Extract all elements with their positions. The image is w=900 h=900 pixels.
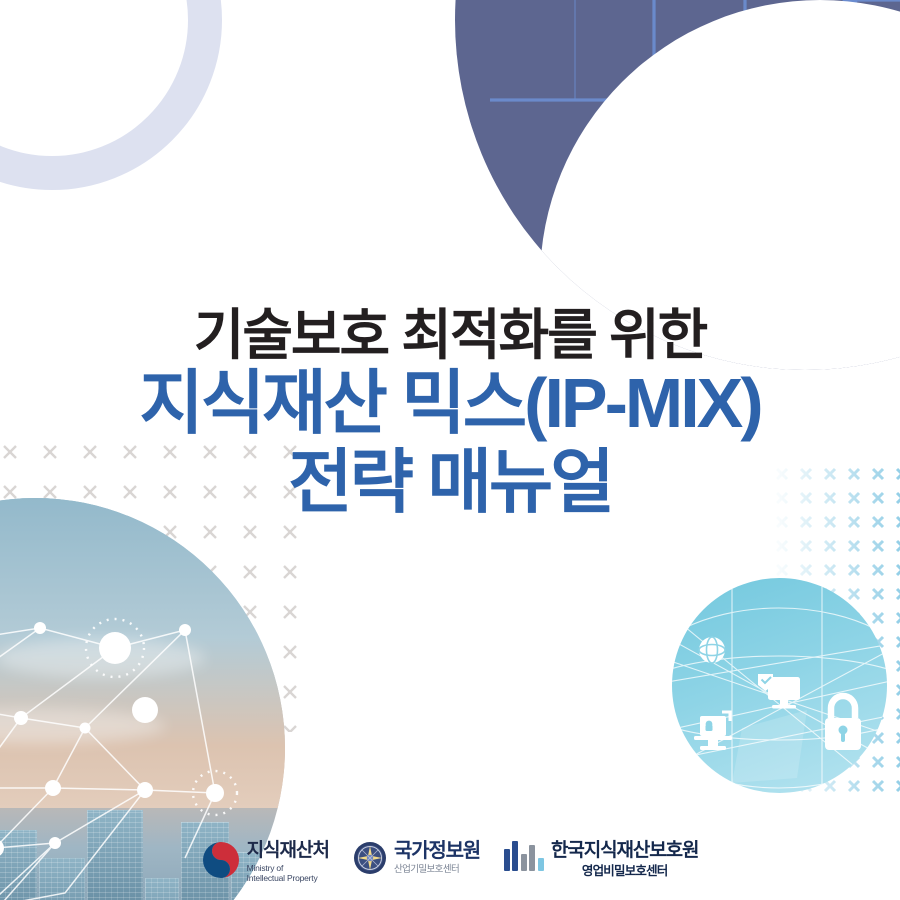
network-mesh-overlay [0, 498, 285, 900]
logo-bar: 지식재산처 Ministry of Intellectual Property [0, 841, 900, 884]
logo-nis-name-ko: 국가정보원 [394, 841, 480, 862]
poster-cover: 기술보호 최적화를 위한 지식재산 믹스(IP-MIX) 전략 매뉴얼 지식재산… [0, 0, 900, 900]
logo-koipa-name-ko: 한국지식재산보호원 [551, 841, 698, 861]
logo-mipo: 지식재산처 Ministry of Intellectual Property [202, 841, 329, 884]
decor-ring-top-left [0, 0, 222, 190]
title-block: 기술보호 최적화를 위한 지식재산 믹스(IP-MIX) 전략 매뉴얼 [0, 306, 900, 521]
logo-nis: 국가정보원 산업기밀보호센터 [353, 841, 480, 880]
logo-mipo-name-en-2: Intellectual Property [247, 873, 329, 883]
logo-mipo-name-ko: 지식재산처 [247, 841, 329, 861]
logo-nis-sub-ko: 산업기밀보호센터 [394, 864, 480, 875]
globe-wireframe-icon [672, 578, 887, 793]
bar-glyph-icon [504, 841, 544, 871]
title-line-3: 전략 매뉴얼 [0, 443, 900, 521]
security-tech-circle [672, 578, 887, 793]
nis-emblem-icon [353, 841, 387, 880]
title-line-2: 지식재산 믹스(IP-MIX) [0, 364, 900, 442]
logo-koipa-sub-ko: 영업비밀보호센터 [551, 864, 698, 879]
logo-koipa: 한국지식재산보호원 영업비밀보호센터 [504, 841, 698, 879]
city-network-photo [0, 498, 285, 900]
taeguk-symbol-icon [202, 841, 240, 884]
title-line-1: 기술보호 최적화를 위한 [0, 306, 900, 364]
logo-mipo-name-en-1: Ministry of [247, 863, 329, 873]
